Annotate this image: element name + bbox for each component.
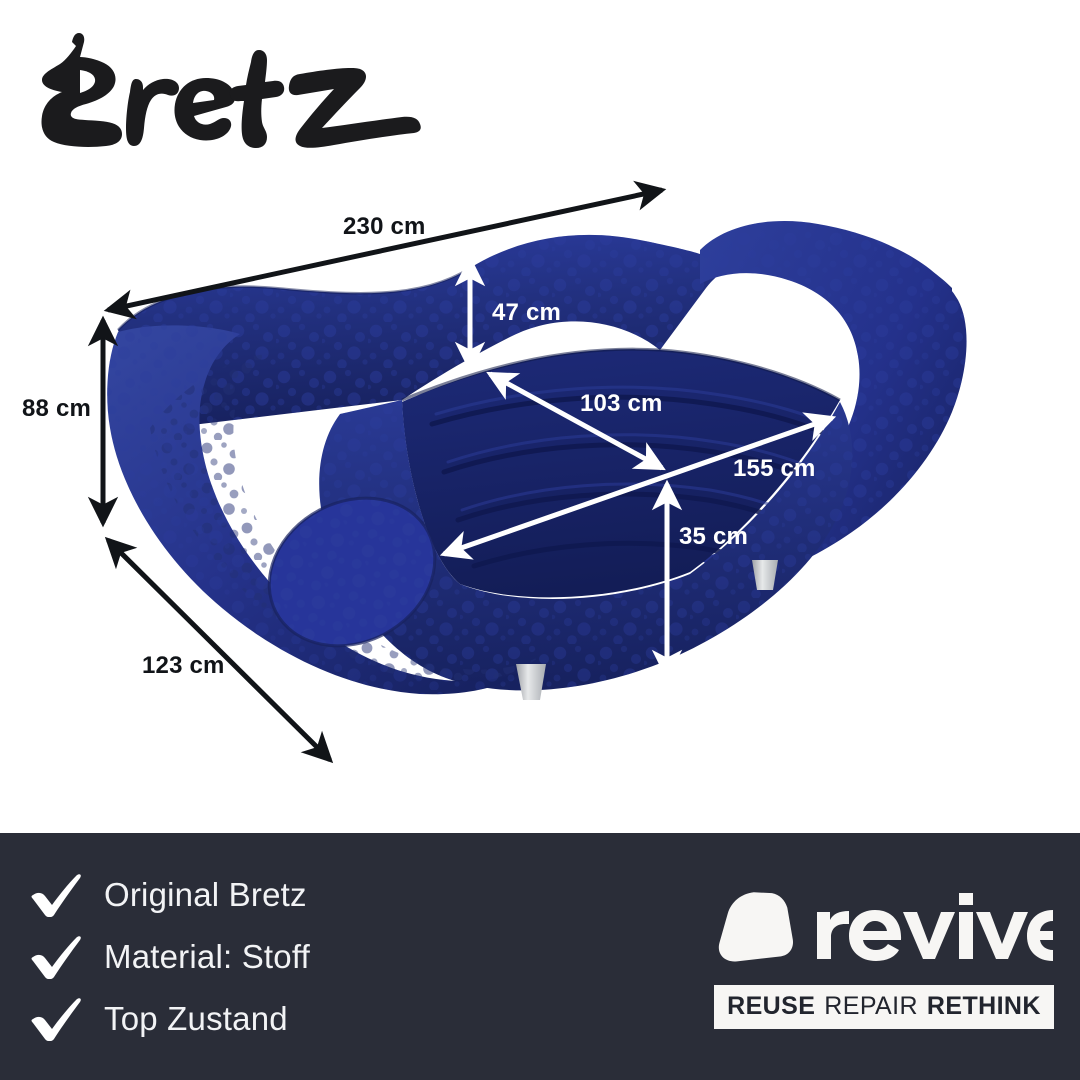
tagline-word-repair: REPAIR [824, 994, 918, 1019]
dimension-label-seat-depth: 103 cm [580, 390, 663, 418]
bretz-logo [22, 30, 422, 175]
dimension-label-seat-width: 155 cm [733, 455, 816, 483]
revive-wordmark [812, 893, 1054, 963]
feature-label: Top Zustand [104, 1002, 288, 1035]
feature-label: Original Bretz [104, 878, 307, 911]
check-icon [30, 997, 82, 1041]
feature-item: Original Bretz [30, 867, 310, 922]
dimension-label-back-height: 47 cm [492, 299, 561, 327]
product-image-canvas: 230 cm 88 cm 123 cm 47 cm 103 cm 155 cm … [0, 0, 1080, 1080]
footer-bar: Original Bretz Material: Stoff Top Zusta… [0, 833, 1080, 1080]
dimension-label-depth: 123 cm [142, 652, 225, 680]
dimension-label-height: 88 cm [22, 395, 91, 423]
check-icon [30, 873, 82, 917]
check-icon [30, 935, 82, 979]
revive-leaf-mark-icon [714, 886, 798, 970]
feature-list: Original Bretz Material: Stoff Top Zusta… [30, 867, 310, 1046]
dimension-label-width: 230 cm [343, 213, 426, 241]
tagline-word-reuse: REUSE [727, 994, 815, 1019]
feature-item: Top Zustand [30, 991, 310, 1046]
tagline-word-rethink: RETHINK [927, 994, 1041, 1019]
feature-item: Material: Stoff [30, 929, 310, 984]
feature-label: Material: Stoff [104, 940, 310, 973]
dimension-label-seat-height: 35 cm [679, 523, 748, 551]
revive-tagline: REUSE REPAIR RETHINK [714, 985, 1054, 1029]
revive-logo: REUSE REPAIR RETHINK [714, 885, 1054, 1029]
